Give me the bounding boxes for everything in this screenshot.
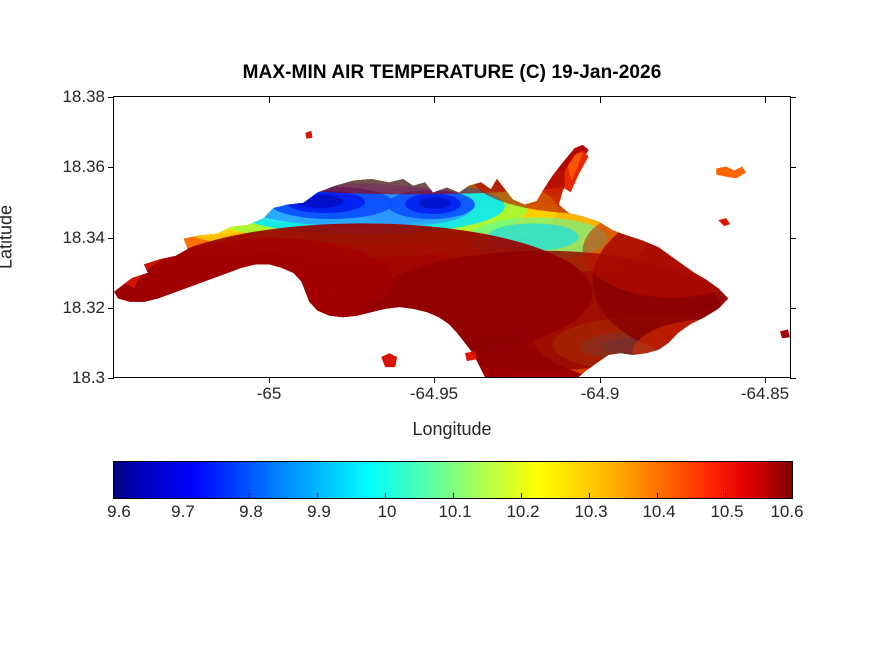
colorbar-label: 10.4 — [642, 502, 675, 522]
colorbar-tick — [725, 493, 726, 499]
map-axes: 18.38 18.36 18.34 18.32 18.3 -65 -64.95 … — [113, 96, 791, 378]
ytick-mark — [108, 378, 114, 379]
colorbar-tick — [589, 493, 590, 499]
ytick-mark-right — [790, 378, 796, 379]
colorbar-label: 9.8 — [239, 502, 263, 522]
ytick-mark-right — [790, 97, 796, 98]
ytick-mark — [108, 167, 114, 168]
xtick-label: -64.9 — [581, 384, 620, 404]
colorbar-tick — [181, 493, 182, 499]
chart-title: MAX-MIN AIR TEMPERATURE (C) 19-Jan-2026 — [113, 62, 791, 84]
colorbar-label: 10.6 — [770, 502, 803, 522]
temperature-field-svg — [114, 97, 790, 377]
colorbar-tick — [792, 493, 793, 499]
colorbar-tick — [317, 493, 318, 499]
colorbar-label: 9.7 — [171, 502, 195, 522]
ytick-label: 18.3 — [72, 368, 105, 388]
colorbar-tick — [385, 493, 386, 499]
xtick-mark-top — [434, 97, 435, 103]
colorbar-label: 10 — [378, 502, 397, 522]
x-axis-label: Longitude — [113, 419, 791, 440]
ytick-mark — [108, 97, 114, 98]
colorbar-tick — [657, 493, 658, 499]
y-axis-label: Latitude — [0, 205, 17, 269]
ytick-label: 18.38 — [62, 87, 105, 107]
colorbar-label: 9.9 — [307, 502, 331, 522]
xtick-label: -65 — [257, 384, 282, 404]
colorbar-tick — [113, 493, 114, 499]
xtick-label: -64.85 — [741, 384, 789, 404]
xtick-mark-top — [765, 97, 766, 103]
ytick-mark — [108, 308, 114, 309]
colorbar-tick — [249, 493, 250, 499]
xtick-mark — [269, 377, 270, 383]
ytick-label: 18.36 — [62, 157, 105, 177]
colorbar-tick — [453, 493, 454, 499]
ytick-mark — [108, 238, 114, 239]
xtick-mark — [765, 377, 766, 383]
xtick-label: -64.95 — [410, 384, 458, 404]
xtick-mark — [434, 377, 435, 383]
ytick-mark-right — [790, 167, 796, 168]
colorbar-label: 10.5 — [710, 502, 743, 522]
ytick-mark-right — [790, 238, 796, 239]
colorbar-label: 9.6 — [107, 502, 131, 522]
colorbar: 9.6 9.7 9.8 9.9 10 10.1 10.2 10.3 10.4 1… — [113, 461, 793, 499]
colorbar-label: 10.3 — [574, 502, 607, 522]
colorbar-label: 10.2 — [506, 502, 539, 522]
ytick-label: 18.34 — [62, 228, 105, 248]
ytick-mark-right — [790, 308, 796, 309]
xtick-mark-top — [269, 97, 270, 103]
temperature-raster — [114, 97, 790, 377]
colorbar-tick — [521, 493, 522, 499]
figure-canvas: MAX-MIN AIR TEMPERATURE (C) 19-Jan-2026 — [0, 0, 875, 656]
ytick-label: 18.32 — [62, 298, 105, 318]
xtick-mark — [600, 377, 601, 383]
colorbar-label: 10.1 — [438, 502, 471, 522]
xtick-mark-top — [600, 97, 601, 103]
